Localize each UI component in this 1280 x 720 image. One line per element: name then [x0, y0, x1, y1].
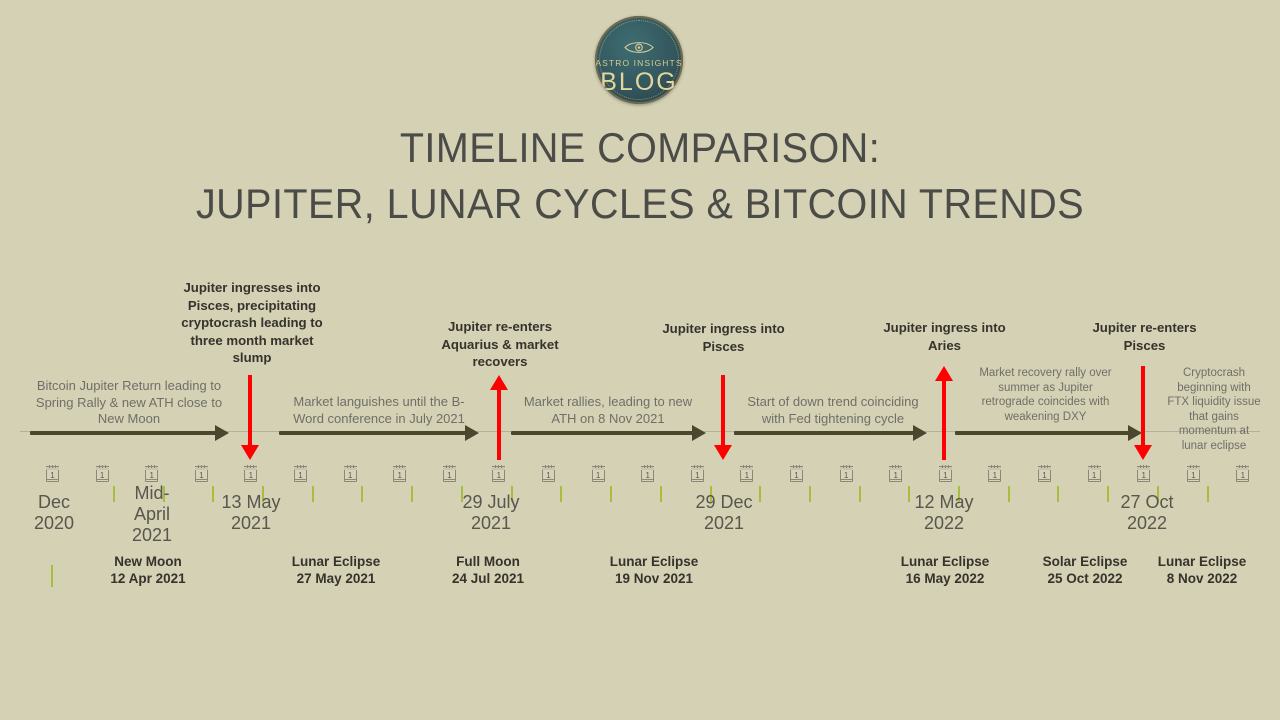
moon-event-date: 27 May 2021 [266, 570, 406, 587]
calendar-icon: 1 [1137, 466, 1150, 482]
text-line: Start of down trend coinciding [727, 394, 939, 411]
arrow-head [490, 375, 508, 390]
arrow-head [1134, 445, 1152, 460]
text-line: 2020 [8, 513, 100, 534]
calendar-icon: 1 [46, 466, 59, 482]
calendar-rings [246, 465, 255, 468]
calendar-icon: 1 [443, 466, 456, 482]
calendar-rings [891, 465, 900, 468]
calendar-footer [1039, 479, 1050, 480]
text-line: 12 May [898, 492, 990, 513]
text-line: Jupiter ingress into [646, 320, 801, 338]
trend-arrow-bitcoin-jupiter-return-rally [30, 424, 229, 442]
calendar-footer [989, 479, 1000, 480]
date-12-may-2022: 12 May2022 [898, 492, 990, 534]
lunar-tick-mark [660, 486, 662, 502]
calendar-footer [890, 479, 901, 480]
calendar-icon: 1 [1038, 466, 1051, 482]
arrow-head [465, 425, 479, 441]
red-arrow-crash-29-dec-2021 [714, 375, 732, 460]
annotation-jupiter-ingress-aries: Jupiter ingress intoAries [867, 319, 1022, 354]
text-line: 27 Oct [1101, 492, 1193, 513]
calendar-footer [692, 479, 703, 480]
calendar-icon: 1 [145, 466, 158, 482]
red-arrow-crash-13-may-2021 [241, 375, 259, 460]
calendar-icon: 1 [244, 466, 257, 482]
calendar-icon: 1 [96, 466, 109, 482]
moon-event-date: 24 Jul 2021 [418, 570, 558, 587]
calendar-rings [48, 465, 57, 468]
calendar-footer [444, 479, 455, 480]
text-line: April [108, 504, 196, 525]
text-line: weakening DXY [953, 410, 1138, 425]
arrow-shaft [30, 431, 217, 435]
text-line: that gains [1155, 410, 1273, 425]
arrow-shaft [497, 388, 501, 460]
calendar-rings [842, 465, 851, 468]
text-line: Jupiter ingresses into [167, 279, 337, 297]
calendar-footer [1237, 479, 1248, 480]
annotation-jupiter-reenters-aquarius: Jupiter re-entersAquarius & marketrecove… [424, 318, 576, 371]
calendar-icon: 1 [1088, 466, 1101, 482]
calendar-icon: 1 [1187, 466, 1200, 482]
calendar-footer [1089, 479, 1100, 480]
logo-tagline: ASTRO INSIGHTS [595, 58, 683, 68]
calendar-icon: 1 [195, 466, 208, 482]
text-line: Pisces [1067, 337, 1222, 355]
arrow-shaft [721, 375, 725, 447]
annotation-jupiter-reenters-pisces-2022: Jupiter re-entersPisces [1067, 319, 1222, 354]
calendar-rings [296, 465, 305, 468]
arrow-head [913, 425, 927, 441]
arrow-shaft [1141, 366, 1145, 447]
text-line: recovers [424, 353, 576, 371]
arrow-shaft [248, 375, 252, 447]
calendar-rings [494, 465, 503, 468]
lunar-tick-mark [1207, 486, 1209, 502]
page-title: TIMELINE COMPARISON: JUPITER, LUNAR CYCL… [38, 120, 1241, 232]
text-line: Market recovery rally over [953, 366, 1138, 381]
calendar-icon: 1 [492, 466, 505, 482]
text-line: Aries [867, 337, 1022, 355]
lunar-tick-mark [361, 486, 363, 502]
moon-event-date: 12 Apr 2021 [78, 570, 218, 587]
date-13-may-2021: 13 May2021 [205, 492, 297, 534]
calendar-rings [1139, 465, 1148, 468]
lunar-tick-mark-extra [51, 565, 53, 587]
calendar-footer [97, 479, 108, 480]
moon-event-full-moon-24-jul-2021: Full Moon24 Jul 2021 [418, 553, 558, 587]
calendar-footer [47, 479, 58, 480]
trend-label-cryptocrash-ftx-liquidity: Cryptocrashbeginning withFTX liquidity i… [1155, 366, 1273, 453]
calendar-icon: 1 [344, 466, 357, 482]
calendar-rings [941, 465, 950, 468]
date-mid-april-2021: Mid-April2021 [108, 483, 196, 546]
annotation-jupiter-ingress-pisces-2021: Jupiter ingress intoPisces [646, 320, 801, 355]
red-arrow-recovery-12-may-2022 [935, 366, 953, 460]
text-line: cryptocrash leading to [167, 314, 337, 332]
calendar-footer [741, 479, 752, 480]
text-line: Bitcoin Jupiter Return leading to [16, 378, 242, 395]
calendar-icon: 1 [988, 466, 1001, 482]
calendar-footer [940, 479, 951, 480]
calendar-icon: 1 [592, 466, 605, 482]
calendar-icon: 1 [1236, 466, 1249, 482]
moon-event-date: 16 May 2022 [875, 570, 1015, 587]
text-line: Cryptocrash [1155, 366, 1273, 381]
calendar-rings [990, 465, 999, 468]
logo-wordmark: BLOG [595, 68, 683, 97]
moon-event-name: Full Moon [418, 553, 558, 570]
text-line: 2021 [445, 513, 537, 534]
date-dec-2020: Dec2020 [8, 492, 100, 534]
arrow-head [692, 425, 706, 441]
lunar-tick-mark [809, 486, 811, 502]
trend-label-market-rallies-new-ath: Market rallies, leading to newATH on 8 N… [502, 394, 714, 427]
date-27-oct-2022: 27 Oct2022 [1101, 492, 1193, 534]
calendar-footer [593, 479, 604, 480]
trend-arrow-market-languishes-b-word [279, 424, 479, 442]
text-line: 29 July [445, 492, 537, 513]
calendar-rings [544, 465, 553, 468]
calendar-rings [197, 465, 206, 468]
calendar-icon: 1 [294, 466, 307, 482]
text-line: slump [167, 349, 337, 367]
text-line: 2021 [108, 525, 196, 546]
text-line: Pisces, precipitating [167, 297, 337, 315]
text-line: three month market [167, 332, 337, 350]
text-line: Market rallies, leading to new [502, 394, 714, 411]
page-title-line-2: JUPITER, LUNAR CYCLES & BITCOIN TRENDS [38, 176, 1241, 232]
trend-arrow-downtrend-fed-tightening [734, 424, 927, 442]
calendar-rings [1090, 465, 1099, 468]
trend-arrow-market-rallies-new-ath [511, 424, 706, 442]
calendar-icon: 1 [641, 466, 654, 482]
moon-event-date: 19 Nov 2021 [584, 570, 724, 587]
moon-event-name: Lunar Eclipse [875, 553, 1015, 570]
calendar-footer [841, 479, 852, 480]
calendar-footer [642, 479, 653, 480]
calendar-rings [643, 465, 652, 468]
infographic-canvas: ASTRO INSIGHTS BLOG TIMELINE COMPARISON:… [0, 0, 1280, 720]
moon-event-lunar-eclipse-16-may-2022: Lunar Eclipse16 May 2022 [875, 553, 1015, 587]
text-line: 2022 [1101, 513, 1193, 534]
calendar-rings [792, 465, 801, 468]
red-arrow-recovery-29-jul-2021 [490, 375, 508, 460]
text-line: 2021 [678, 513, 770, 534]
text-line: Pisces [646, 338, 801, 356]
trend-label-bitcoin-jupiter-return-rally: Bitcoin Jupiter Return leading toSpring … [16, 378, 242, 428]
calendar-footer [1188, 479, 1199, 480]
calendar-rings [1238, 465, 1247, 468]
moon-event-name: Lunar Eclipse [584, 553, 724, 570]
trend-label-downtrend-fed-tightening: Start of down trend coincidingwith Fed t… [727, 394, 939, 427]
calendar-rings [98, 465, 107, 468]
calendar-footer [493, 479, 504, 480]
lunar-tick-mark [560, 486, 562, 502]
calendar-footer [196, 479, 207, 480]
moon-event-lunar-eclipse-19-nov-2021: Lunar Eclipse19 Nov 2021 [584, 553, 724, 587]
moon-event-name: Lunar Eclipse [1132, 553, 1272, 570]
calendar-rings [594, 465, 603, 468]
text-line: Dec [8, 492, 100, 513]
calendar-icon: 1 [939, 466, 952, 482]
text-line: Jupiter re-enters [1067, 319, 1222, 337]
lunar-tick-mark [610, 486, 612, 502]
calendar-footer [394, 479, 405, 480]
text-line: lunar eclipse [1155, 439, 1273, 454]
text-line: 2022 [898, 513, 990, 534]
arrow-shaft [955, 431, 1130, 435]
text-line: 13 May [205, 492, 297, 513]
calendar-icon: 1 [889, 466, 902, 482]
calendar-footer [146, 479, 157, 480]
lunar-tick-mark [411, 486, 413, 502]
moon-event-new-moon-12-apr-2021: New Moon12 Apr 2021 [78, 553, 218, 587]
moon-event-date: 8 Nov 2022 [1132, 570, 1272, 587]
annotation-jupiter-pisces-ingress-2021: Jupiter ingresses intoPisces, precipitat… [167, 279, 337, 367]
arrow-shaft [942, 379, 946, 460]
text-line: Market languishes until the B- [270, 394, 488, 411]
arrow-shaft [279, 431, 467, 435]
moon-event-lunar-eclipse-8-nov-2022: Lunar Eclipse8 Nov 2022 [1132, 553, 1272, 587]
text-line: Jupiter ingress into [867, 319, 1022, 337]
calendar-rings [693, 465, 702, 468]
moon-event-lunar-eclipse-27-may-2021: Lunar Eclipse27 May 2021 [266, 553, 406, 587]
moon-event-name: Lunar Eclipse [266, 553, 406, 570]
lunar-tick-mark [1057, 486, 1059, 502]
text-line: beginning with [1155, 381, 1273, 396]
calendar-icon: 1 [691, 466, 704, 482]
arrow-head [241, 445, 259, 460]
lunar-tick-mark [312, 486, 314, 502]
astro-insights-blog-logo: ASTRO INSIGHTS BLOG [595, 16, 683, 104]
arrow-shaft [734, 431, 915, 435]
text-line: Spring Rally & new ATH close to [16, 395, 242, 412]
trend-arrow-market-recovery-jupiter-retrograde [955, 424, 1142, 442]
calendar-icon: 1 [840, 466, 853, 482]
text-line: 29 Dec [678, 492, 770, 513]
calendar-footer [245, 479, 256, 480]
date-29-dec-2021: 29 Dec2021 [678, 492, 770, 534]
text-line: Mid- [108, 483, 196, 504]
calendar-rings [147, 465, 156, 468]
calendar-rings [742, 465, 751, 468]
calendar-rings [1040, 465, 1049, 468]
text-line: Aquarius & market [424, 336, 576, 354]
text-line: Jupiter re-enters [424, 318, 576, 336]
text-line: FTX liquidity issue [1155, 395, 1273, 410]
arrow-shaft [511, 431, 694, 435]
calendar-footer [543, 479, 554, 480]
calendar-footer [345, 479, 356, 480]
trend-label-market-languishes-b-word: Market languishes until the B-Word confe… [270, 394, 488, 427]
calendar-footer [791, 479, 802, 480]
moon-event-name: New Moon [78, 553, 218, 570]
text-line: momentum at [1155, 424, 1273, 439]
arrow-head [714, 445, 732, 460]
calendar-rings [1189, 465, 1198, 468]
eye-icon [624, 40, 654, 55]
red-arrow-crash-27-oct-2022 [1134, 366, 1152, 460]
calendar-icon: 1 [393, 466, 406, 482]
arrow-head [935, 366, 953, 381]
lunar-tick-mark [859, 486, 861, 502]
trend-label-market-recovery-jupiter-retrograde: Market recovery rally oversummer as Jupi… [953, 366, 1138, 424]
calendar-icon: 1 [542, 466, 555, 482]
date-29-july-2021: 29 July2021 [445, 492, 537, 534]
calendar-icon: 1 [790, 466, 803, 482]
calendar-icon: 1 [740, 466, 753, 482]
calendar-rings [346, 465, 355, 468]
lunar-tick-mark [1008, 486, 1010, 502]
calendar-rings [395, 465, 404, 468]
text-line: summer as Jupiter [953, 381, 1138, 396]
arrow-head [215, 425, 229, 441]
text-line: retrograde coincides with [953, 395, 1138, 410]
calendar-rings [445, 465, 454, 468]
page-title-line-1: TIMELINE COMPARISON: [38, 120, 1241, 176]
calendar-footer [295, 479, 306, 480]
calendar-footer [1138, 479, 1149, 480]
text-line: 2021 [205, 513, 297, 534]
